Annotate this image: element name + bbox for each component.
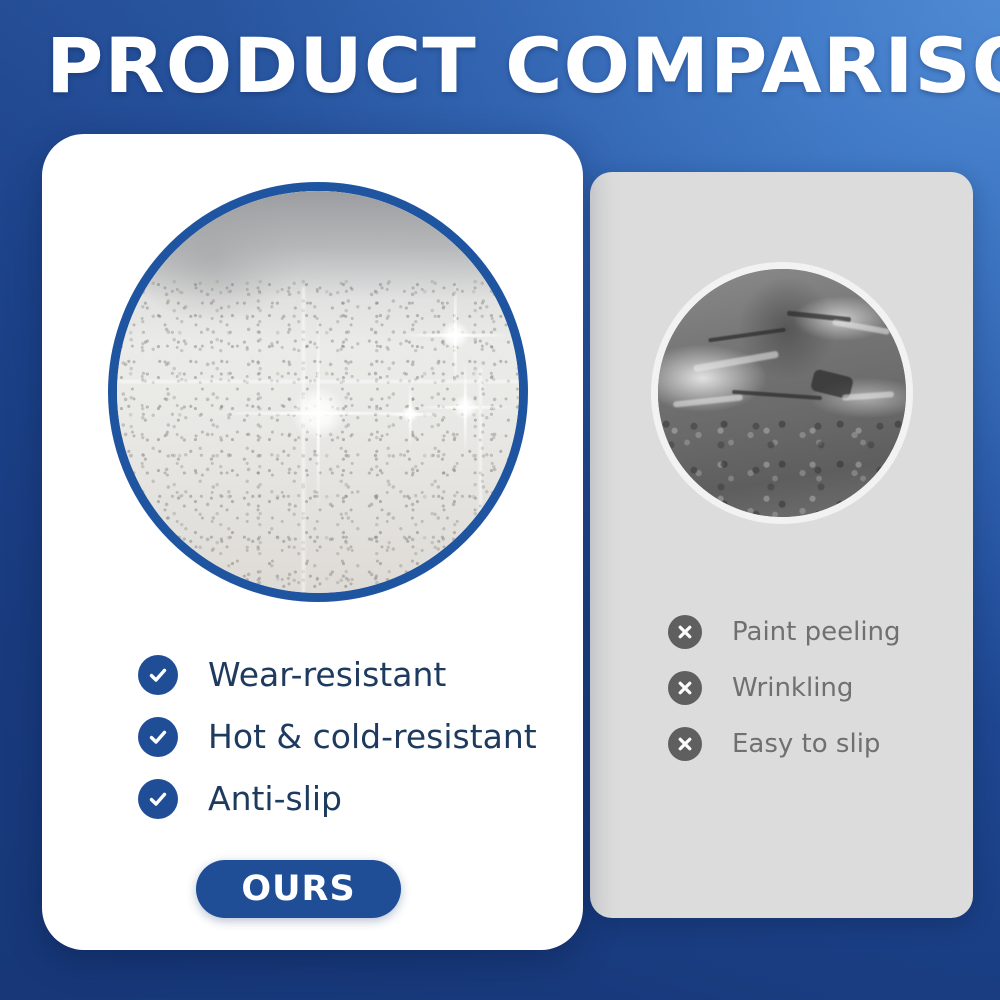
list-item: Wrinkling	[668, 660, 968, 716]
list-item-label: Anti-slip	[208, 779, 342, 819]
surface-damage-texture	[658, 413, 906, 517]
ours-product-image	[108, 182, 528, 602]
speckle-texture	[117, 279, 519, 593]
x-circle-icon	[668, 615, 702, 649]
list-item: Paint peeling	[668, 604, 968, 660]
ours-badge: OURS	[196, 860, 401, 918]
check-circle-icon	[138, 655, 178, 695]
list-item: Easy to slip	[668, 716, 968, 772]
x-circle-icon	[668, 671, 702, 705]
others-card: Paint peeling Wrinkling Easy to slip	[590, 172, 973, 918]
list-item-label: Wrinkling	[732, 672, 853, 704]
check-circle-icon	[138, 717, 178, 757]
x-circle-icon	[668, 727, 702, 761]
ours-card: Wear-resistant Hot & cold-resistant Anti…	[42, 134, 583, 950]
list-item-label: Hot & cold-resistant	[208, 717, 537, 757]
comparison-infographic: PRODUCT COMPARISON Paint peeling	[0, 0, 1000, 1000]
list-item-label: Easy to slip	[732, 728, 880, 760]
list-item: Wear-resistant	[138, 644, 558, 706]
check-circle-icon	[138, 779, 178, 819]
grout-line	[302, 287, 305, 593]
grout-line	[117, 380, 519, 383]
list-item: Hot & cold-resistant	[138, 706, 558, 768]
page-title: PRODUCT COMPARISON	[46, 24, 994, 108]
others-product-image	[651, 262, 913, 524]
others-feature-list: Paint peeling Wrinkling Easy to slip	[668, 604, 968, 772]
list-item-label: Wear-resistant	[208, 655, 446, 695]
ours-feature-list: Wear-resistant Hot & cold-resistant Anti…	[138, 644, 558, 830]
list-item: Anti-slip	[138, 768, 558, 830]
list-item-label: Paint peeling	[732, 616, 901, 648]
grout-line	[479, 368, 482, 593]
